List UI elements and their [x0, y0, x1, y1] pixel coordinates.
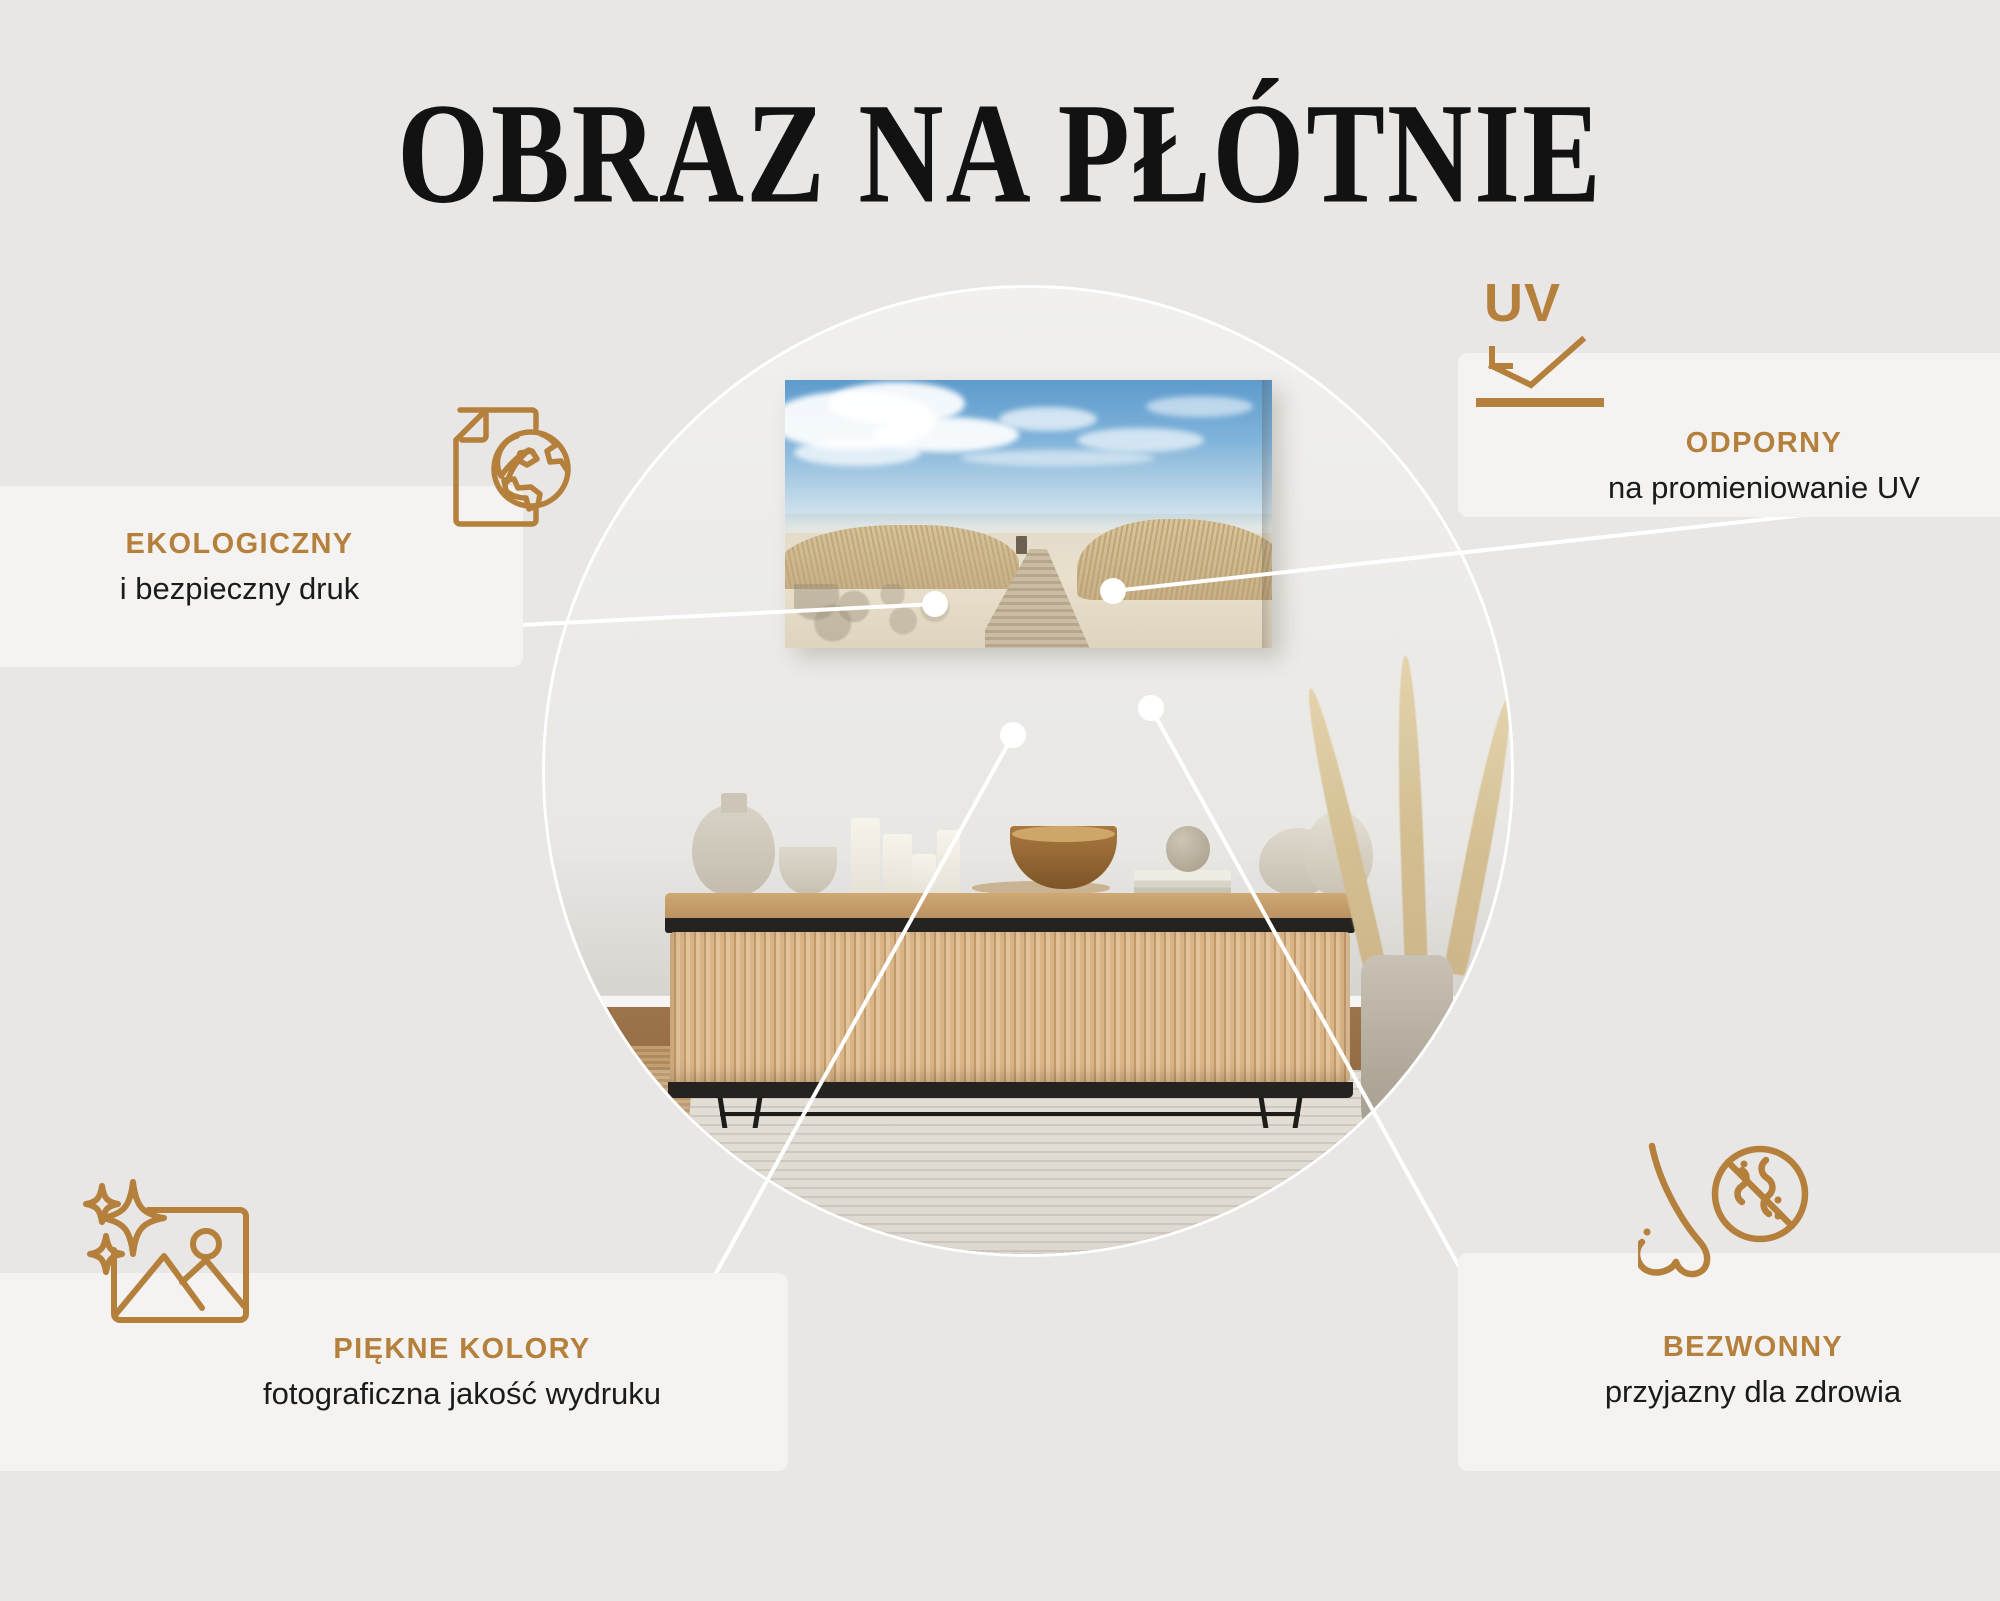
- sideboard-decor: [665, 793, 1356, 894]
- feature-label-odporny: ODPORNY: [1480, 429, 2000, 458]
- candle: [851, 818, 880, 895]
- feature-sub-piekne-kolory: fotograficzna jakość wydruku: [158, 1375, 766, 1412]
- cloud: [960, 450, 1155, 466]
- dune-grass-right: [1077, 519, 1272, 600]
- page-title: OBRAZ NA PŁÓTNIE: [0, 82, 2000, 226]
- candle: [912, 854, 935, 895]
- dune-grass-left: [785, 525, 1019, 589]
- feature-label-piekne-kolory: PIĘKNE KOLORY: [158, 1335, 766, 1364]
- feature-label-bezwonny: BEZWONNY: [1458, 1333, 2000, 1362]
- cloud: [999, 407, 1097, 431]
- stacked-books: [1134, 870, 1231, 894]
- feature-sub-bezwonny: przyjazny dla zdrowia: [1458, 1373, 2000, 1410]
- infographic-stage: OBRAZ NA PŁÓTNIE: [0, 0, 2000, 1601]
- pampas-grass: [1356, 655, 1491, 974]
- canvas-artwork: [785, 380, 1273, 649]
- uv-reflection-icon: UV: [1476, 282, 1646, 418]
- room-scene: [545, 288, 1511, 1254]
- sideboard-lip: [665, 918, 1356, 933]
- product-scene-circle: [545, 288, 1511, 1254]
- small-bowl: [779, 847, 838, 895]
- eco-document-globe-leaf-icon: [424, 396, 592, 536]
- sideboard-top: [665, 893, 1356, 918]
- candle: [937, 830, 960, 895]
- feature-sub-odporny: na promieniowanie UV: [1480, 469, 2000, 506]
- picture-sparkles-icon: [78, 1168, 264, 1334]
- cloud: [794, 439, 921, 466]
- fluted-wood-doors: [670, 932, 1350, 1082]
- canvas-side-edge: [1262, 380, 1273, 649]
- floor-vase: [1361, 955, 1453, 1148]
- footprints: [794, 584, 970, 643]
- pampas-plume: [1394, 655, 1428, 974]
- wooden-post: [1016, 536, 1027, 555]
- sideboard-cabinet: [665, 893, 1356, 1121]
- nose-no-smell-icon: [1638, 1138, 1828, 1314]
- bronze-bowl: [1010, 826, 1117, 889]
- decorative-sphere: [1166, 826, 1211, 873]
- feature-sub-ekologiczny: i bezpieczny druk: [0, 570, 501, 607]
- sideboard-base: [668, 1082, 1353, 1098]
- ceramic-vase: [692, 805, 775, 894]
- cabinet-leg-bar: [720, 1112, 1300, 1116]
- candle: [883, 834, 912, 895]
